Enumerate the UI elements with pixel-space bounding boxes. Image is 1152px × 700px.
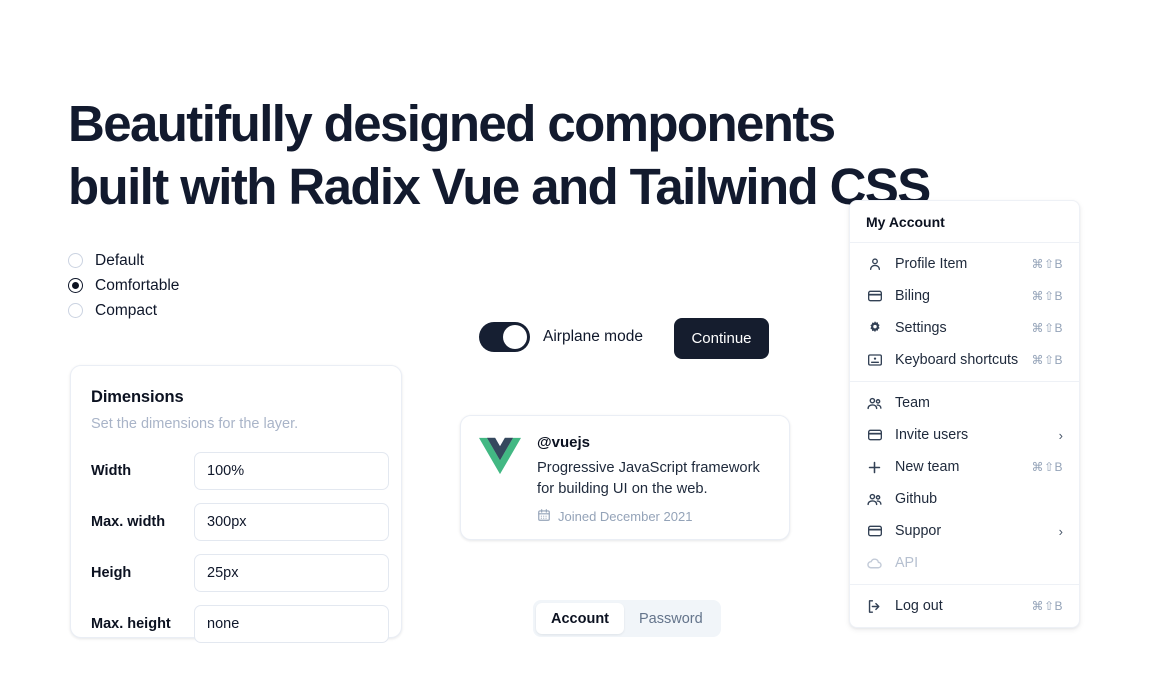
calendar-icon (537, 508, 551, 525)
menu-item-label: Github (895, 491, 1063, 507)
menu-item-label: Invite users (895, 427, 1059, 443)
dimensions-row-max-height: Max. height (91, 605, 381, 643)
dimensions-row-height: Heigh (91, 554, 381, 592)
menu-item-support[interactable]: Suppor › (850, 515, 1079, 547)
logout-icon (866, 598, 883, 615)
field-label: Heigh (91, 565, 194, 581)
menu-group-account: Profile Item ⌘⇧B Biling ⌘⇧B Settings ⌘⇧B (850, 243, 1079, 381)
menu-item-keyboard-shortcuts[interactable]: Keyboard shortcuts ⌘⇧B (850, 344, 1079, 376)
airplane-mode-row: Airplane mode (479, 322, 643, 352)
continue-button[interactable]: Continue (674, 318, 769, 359)
credit-card-icon (866, 427, 883, 444)
max-height-input[interactable] (194, 605, 389, 643)
vue-profile-card: @vuejs Progressive JavaScript framework … (460, 415, 790, 540)
keyboard-icon (866, 352, 883, 369)
radio-option-label: Comfortable (95, 278, 179, 294)
tab-account[interactable]: Account (536, 603, 624, 634)
radio-circle-filled-icon (68, 278, 83, 293)
menu-item-log-out[interactable]: Log out ⌘⇧B (850, 590, 1079, 622)
gear-icon (866, 320, 883, 337)
menu-item-invite-users[interactable]: Invite users › (850, 419, 1079, 451)
radio-option-default[interactable]: Default (68, 248, 288, 273)
radio-option-comfortable[interactable]: Comfortable (68, 273, 288, 298)
dimensions-field-list: Width Max. width Heigh Max. height (91, 452, 381, 643)
menu-item-label: Log out (895, 598, 1031, 614)
menu-item-label: Settings (895, 320, 1031, 336)
radio-circle-icon (68, 253, 83, 268)
field-label: Max. width (91, 514, 194, 530)
menu-item-api: API (850, 547, 1079, 579)
menu-item-label: Suppor (895, 523, 1059, 539)
airplane-mode-label: Airplane mode (543, 328, 643, 346)
users-icon (866, 491, 883, 508)
menu-item-shortcut: ⌘⇧B (1031, 460, 1063, 474)
menu-item-label: API (895, 555, 1063, 571)
radio-option-label: Compact (95, 303, 157, 319)
menu-item-team[interactable]: Team (850, 387, 1079, 419)
account-dropdown-menu: My Account Profile Item ⌘⇧B Biling ⌘⇧B (849, 200, 1080, 628)
cloud-icon (866, 555, 883, 572)
vue-description: Progressive JavaScript framework for bui… (537, 458, 771, 500)
vue-joined-text: Joined December 2021 (558, 509, 692, 524)
vue-handle: @vuejs (537, 434, 771, 451)
airplane-mode-switch[interactable] (479, 322, 530, 352)
menu-item-profile[interactable]: Profile Item ⌘⇧B (850, 248, 1079, 280)
radio-circle-icon (68, 303, 83, 318)
tab-password[interactable]: Password (624, 603, 718, 634)
credit-card-icon (866, 288, 883, 305)
credit-card-icon (866, 523, 883, 540)
dimensions-card: Dimensions Set the dimensions for the la… (70, 365, 402, 638)
max-width-input[interactable] (194, 503, 389, 541)
field-label: Width (91, 463, 194, 479)
menu-item-label: Team (895, 395, 1063, 411)
height-input[interactable] (194, 554, 389, 592)
switch-knob (503, 325, 527, 349)
menu-item-shortcut: ⌘⇧B (1031, 257, 1063, 271)
menu-item-shortcut: ⌘⇧B (1031, 353, 1063, 367)
menu-item-new-team[interactable]: New team ⌘⇧B (850, 451, 1079, 483)
radio-option-label: Default (95, 253, 144, 269)
field-label: Max. height (91, 616, 194, 632)
menu-item-shortcut: ⌘⇧B (1031, 599, 1063, 613)
chevron-right-icon: › (1059, 428, 1063, 443)
dimensions-title: Dimensions (91, 388, 381, 407)
settings-tabs: Account Password (533, 600, 721, 637)
users-icon (866, 395, 883, 412)
user-icon (866, 256, 883, 273)
page-title-line-1: Beautifully designed components (68, 92, 1028, 155)
vue-joined-row: Joined December 2021 (537, 508, 771, 525)
menu-item-shortcut: ⌘⇧B (1031, 321, 1063, 335)
menu-item-billing[interactable]: Biling ⌘⇧B (850, 280, 1079, 312)
menu-header-label: My Account (850, 201, 1079, 242)
menu-item-shortcut: ⌘⇧B (1031, 289, 1063, 303)
menu-item-label: New team (895, 459, 1031, 475)
vue-card-body: @vuejs Progressive JavaScript framework … (537, 434, 771, 539)
dimensions-row-max-width: Max. width (91, 503, 381, 541)
plus-icon (866, 459, 883, 476)
density-radio-group: Default Comfortable Compact (68, 248, 288, 323)
menu-group-team: Team Invite users › New team ⌘⇧B (850, 382, 1079, 584)
dimensions-row-width: Width (91, 452, 381, 490)
menu-item-label: Profile Item (895, 256, 1031, 272)
menu-item-settings[interactable]: Settings ⌘⇧B (850, 312, 1079, 344)
dimensions-subtitle: Set the dimensions for the layer. (91, 416, 381, 432)
radio-option-compact[interactable]: Compact (68, 298, 288, 323)
menu-group-session: Log out ⌘⇧B (850, 585, 1079, 627)
vue-logo-icon (479, 437, 521, 475)
menu-item-label: Keyboard shortcuts (895, 352, 1031, 368)
menu-item-label: Biling (895, 288, 1031, 304)
chevron-right-icon: › (1059, 524, 1063, 539)
menu-item-github[interactable]: Github (850, 483, 1079, 515)
width-input[interactable] (194, 452, 389, 490)
